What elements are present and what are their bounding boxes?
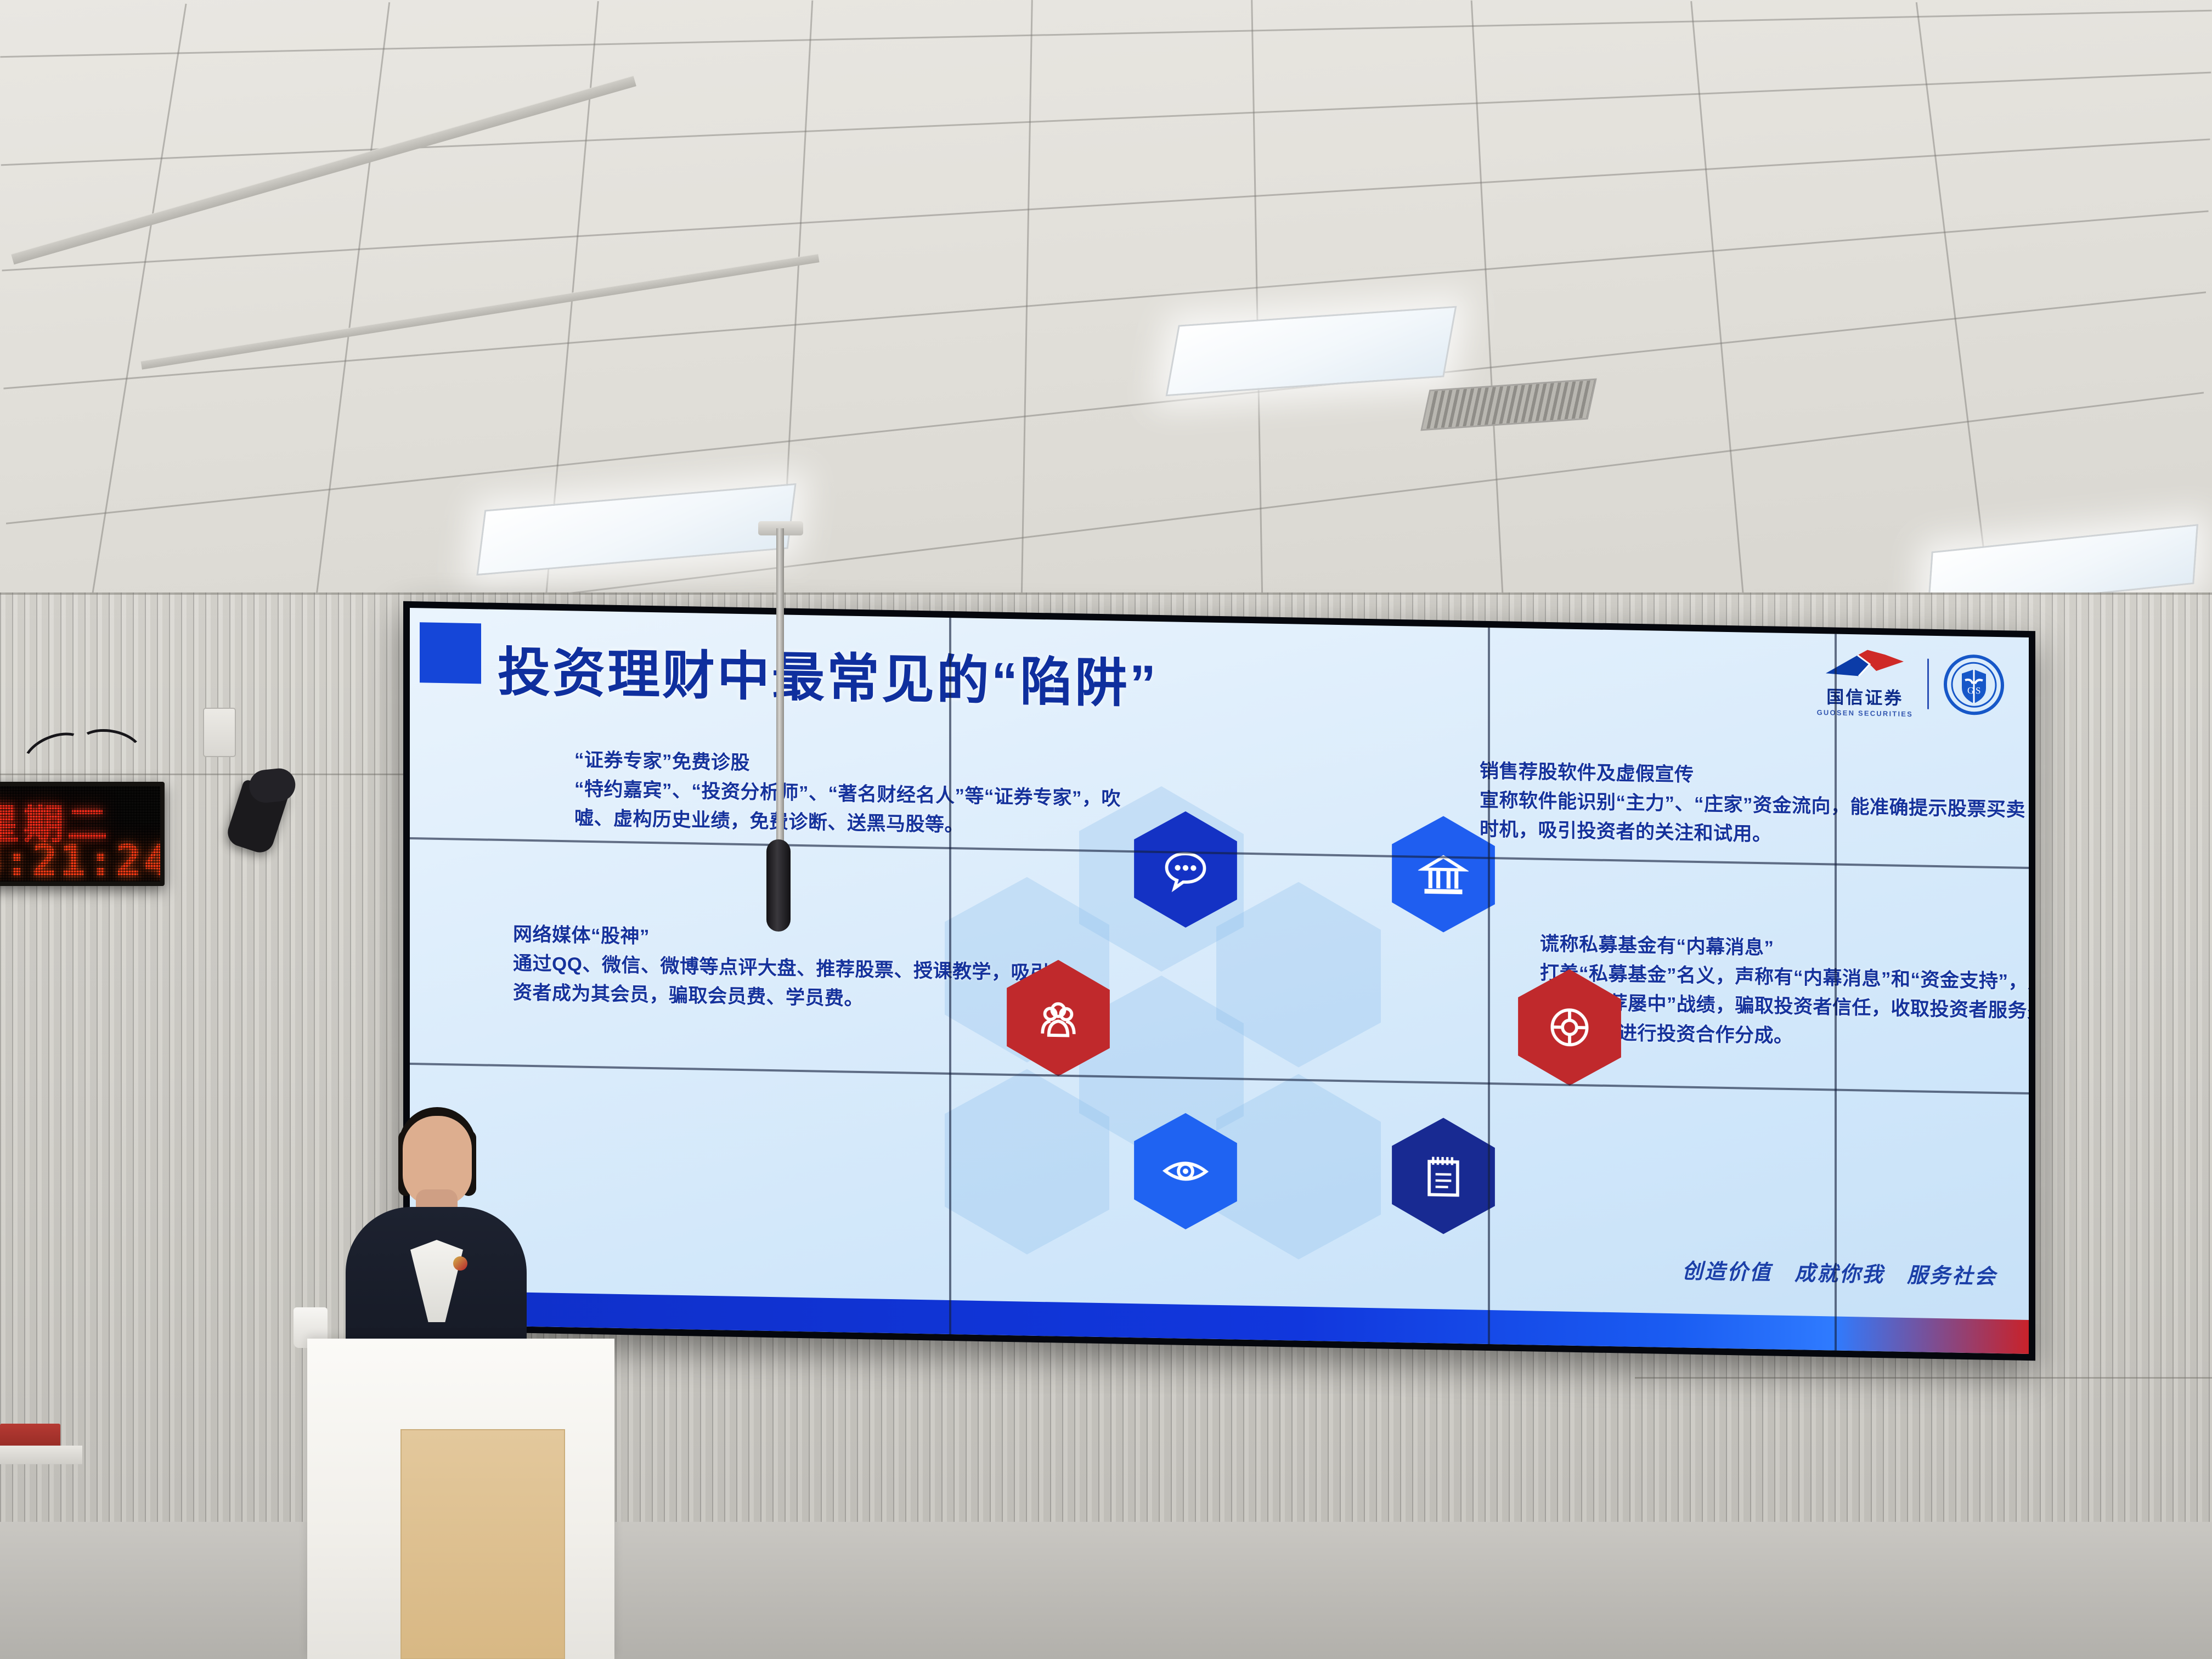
investor-education-seal-icon: G S [1943,653,2005,716]
people-group-icon [1033,992,1084,1044]
guosen-logo: 国信证券 GUOSEN SECURITIES [1817,647,1913,718]
text-block-top-left: “证券专家”免费诊股 “特约嘉宾”、“投资分析师”、“著名财经名人”等“证券专家… [574,745,1123,843]
text-block-middle-left: 网络媒体“股神” 通过QQ、微信、微博等点评大盘、推荐股票、授课教学，吸引投资者… [513,919,1078,1017]
lifebuoy-icon [1544,1002,1595,1053]
video-wall-bezel [1835,634,1837,1351]
brand-slogan: 创造价值 成就你我 服务社会 [1682,1254,1997,1290]
slide-title: 投资理财中最常见的“陷阱” [498,629,1158,718]
video-wall[interactable]: 投资理财中最常见的“陷阱” 国信证券 GUOSEN SECURITIES [403,601,2035,1361]
led-clock-display: 星期二 4:21:24 [0,782,165,886]
ceiling-microphone-icon [766,839,791,932]
shelf [0,1446,82,1464]
svg-text:G: G [1967,685,1974,695]
text-block-body: 通过QQ、微信、微博等点评大盘、推荐股票、授课教学，吸引投资者成为其会员，骗取会… [513,949,1078,1018]
video-wall-bezel [1488,628,1490,1344]
text-block-top-right: 销售荐股软件及虚假宣传 宣称软件能识别“主力”、“庄家”资金流向，能准确提示股票… [1480,757,2029,854]
conference-room-photo: 星期二 4:21:24 投资理财中最常见的“陷阱” [0,0,2212,1659]
ceiling [0,0,2212,614]
power-outlet [203,708,236,757]
notepad-icon [1418,1150,1469,1202]
text-block-body: “特约嘉宾”、“投资分析师”、“著名财经名人”等“证券专家”，吹嘘、虚构历史业绩… [574,775,1123,843]
eye-icon [1160,1145,1211,1197]
podium [307,1339,614,1659]
slide: 投资理财中最常见的“陷阱” 国信证券 GUOSEN SECURITIES [410,608,2029,1354]
guosen-logo-en: GUOSEN SECURITIES [1817,708,1913,718]
lapel-pin [453,1256,467,1271]
hex-badge-notepad[interactable] [1392,1117,1495,1235]
led-time: 4:21:24 [0,837,165,886]
guosen-logo-cn: 国信证券 [1826,683,1903,710]
presentation-screen[interactable]: 投资理财中最常见的“陷阱” 国信证券 GUOSEN SECURITIES [410,608,2029,1354]
title-accent-block [420,622,481,684]
ceiling-boom-pole [776,528,784,868]
podium-front-panel [400,1429,565,1659]
ceiling-grid [0,0,2212,614]
svg-text:S: S [1976,685,1980,696]
logo-divider [1927,658,1929,709]
video-wall-bezel [949,618,951,1334]
brand-logos: 国信证券 GUOSEN SECURITIES G [1817,647,2005,720]
text-block-body: 宣称软件能识别“主力”、“庄家”资金流向，能准确提示股票买卖时机，吸引投资者的关… [1480,786,2029,854]
